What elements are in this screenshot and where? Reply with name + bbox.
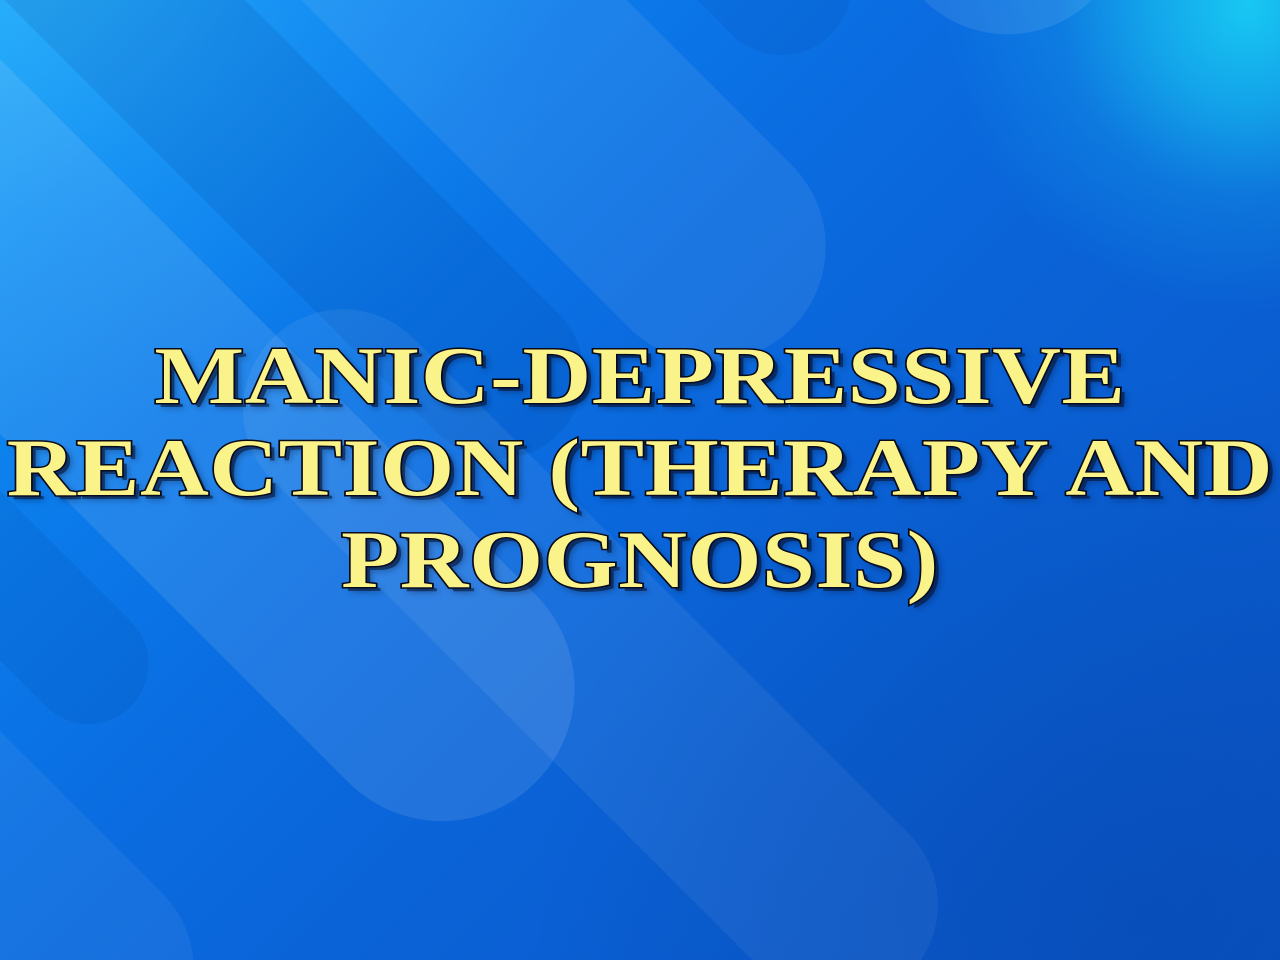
slide-title-line-2: REACTION (THERAPY AND xyxy=(7,422,1273,513)
slide-title-block: MANIC-DEPRESSIVE REACTION (THERAPY AND P… xyxy=(0,330,1280,606)
slide-canvas: MANIC-DEPRESSIVE REACTION (THERAPY AND P… xyxy=(0,0,1280,960)
slide-title-line-3: PROGNOSIS) xyxy=(341,514,939,605)
slide-title-line-1: MANIC-DEPRESSIVE xyxy=(154,330,1125,421)
slide-title: MANIC-DEPRESSIVE REACTION (THERAPY AND P… xyxy=(0,330,1280,606)
